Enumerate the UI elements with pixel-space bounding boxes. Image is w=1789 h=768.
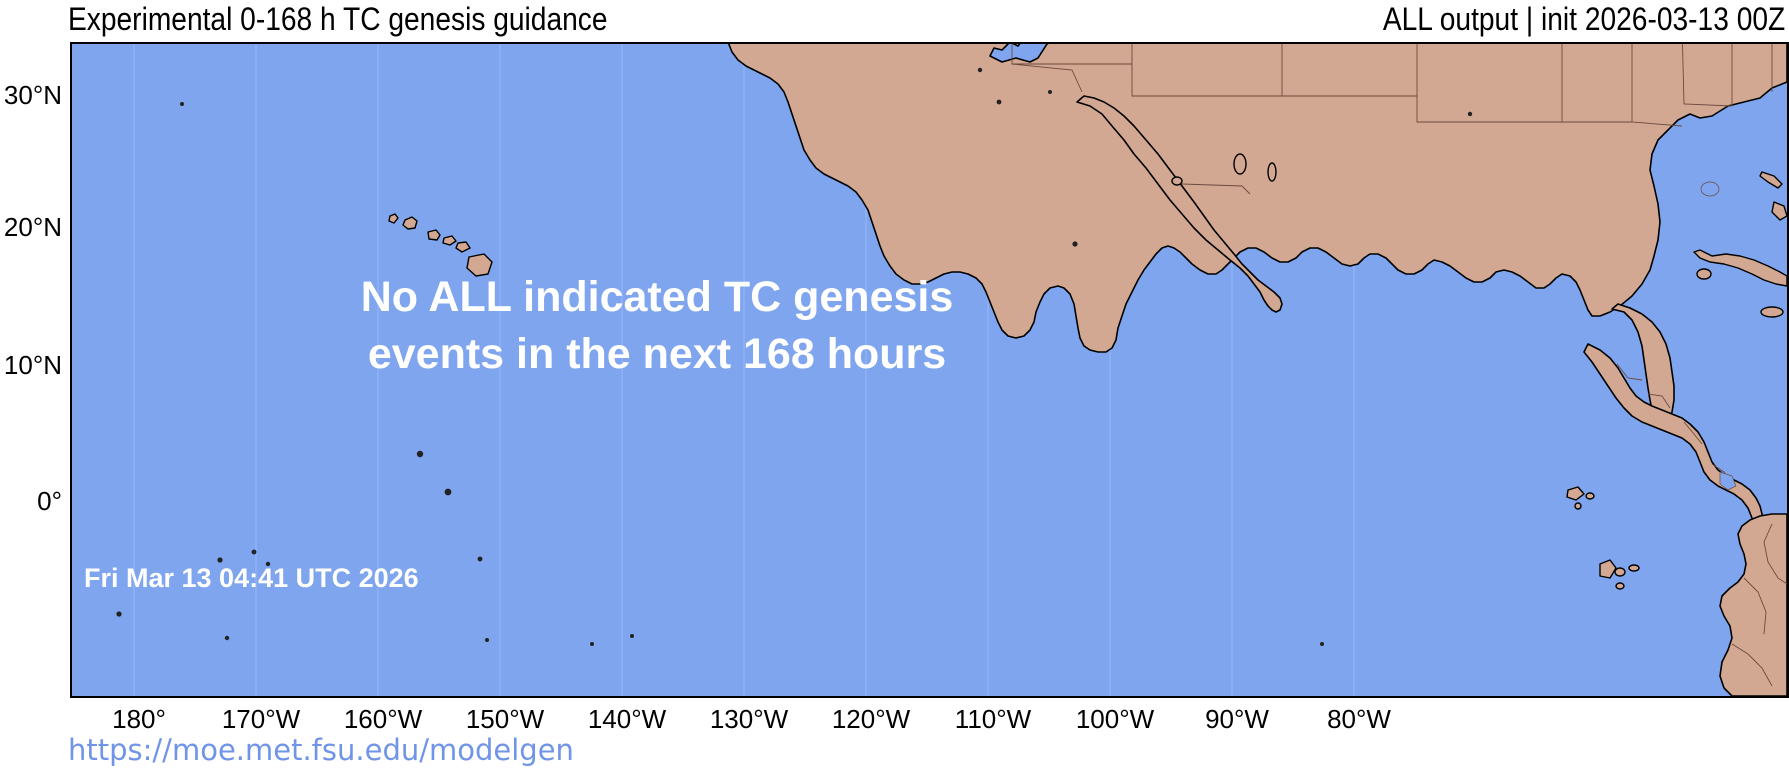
map-canvas: .land { fill: #D3A893; stroke: #000000; … (72, 44, 1787, 696)
x-tick-label: 150°W (466, 703, 544, 735)
timestamp-label: Fri Mar 13 04:41 UTC 2026 (84, 562, 419, 594)
jamaica-island (1761, 307, 1783, 317)
isla-de-la-juventud (1697, 269, 1711, 279)
source-url-link[interactable]: https://moe.met.fsu.edu/modelgen (68, 733, 574, 767)
x-axis: 180° 170°W 160°W 150°W 140°W 130°W 120°W… (0, 703, 1789, 737)
x-tick-label: 80°W (1327, 703, 1391, 735)
y-tick-label: 20°N (4, 212, 62, 242)
x-tick-label: 100°W (1076, 703, 1154, 735)
x-tick-label: 140°W (588, 703, 666, 735)
header: Experimental 0-168 h TC genesis guidance… (0, 0, 1789, 40)
model-init-label: ALL output | init 2026-03-13 00Z (1383, 0, 1785, 38)
map-plot-area[interactable]: .land { fill: #D3A893; stroke: #000000; … (70, 42, 1789, 698)
x-tick-label: 160°W (344, 703, 422, 735)
page-title: Experimental 0-168 h TC genesis guidance (68, 0, 608, 38)
y-tick-label: 30°N (4, 80, 62, 110)
y-tick-label: 0° (37, 486, 62, 516)
x-tick-label: 110°W (955, 703, 1031, 735)
x-tick-label: 120°W (832, 703, 910, 735)
x-tick-label: 180° (112, 703, 166, 735)
y-tick-label: 10°N (4, 350, 62, 380)
lake-okeechobee (1701, 182, 1719, 196)
x-tick-label: 90°W (1205, 703, 1269, 735)
x-tick-label: 130°W (710, 703, 788, 735)
y-axis: 30°N 20°N 10°N 0° (0, 0, 70, 768)
x-tick-label: 170°W (222, 703, 300, 735)
